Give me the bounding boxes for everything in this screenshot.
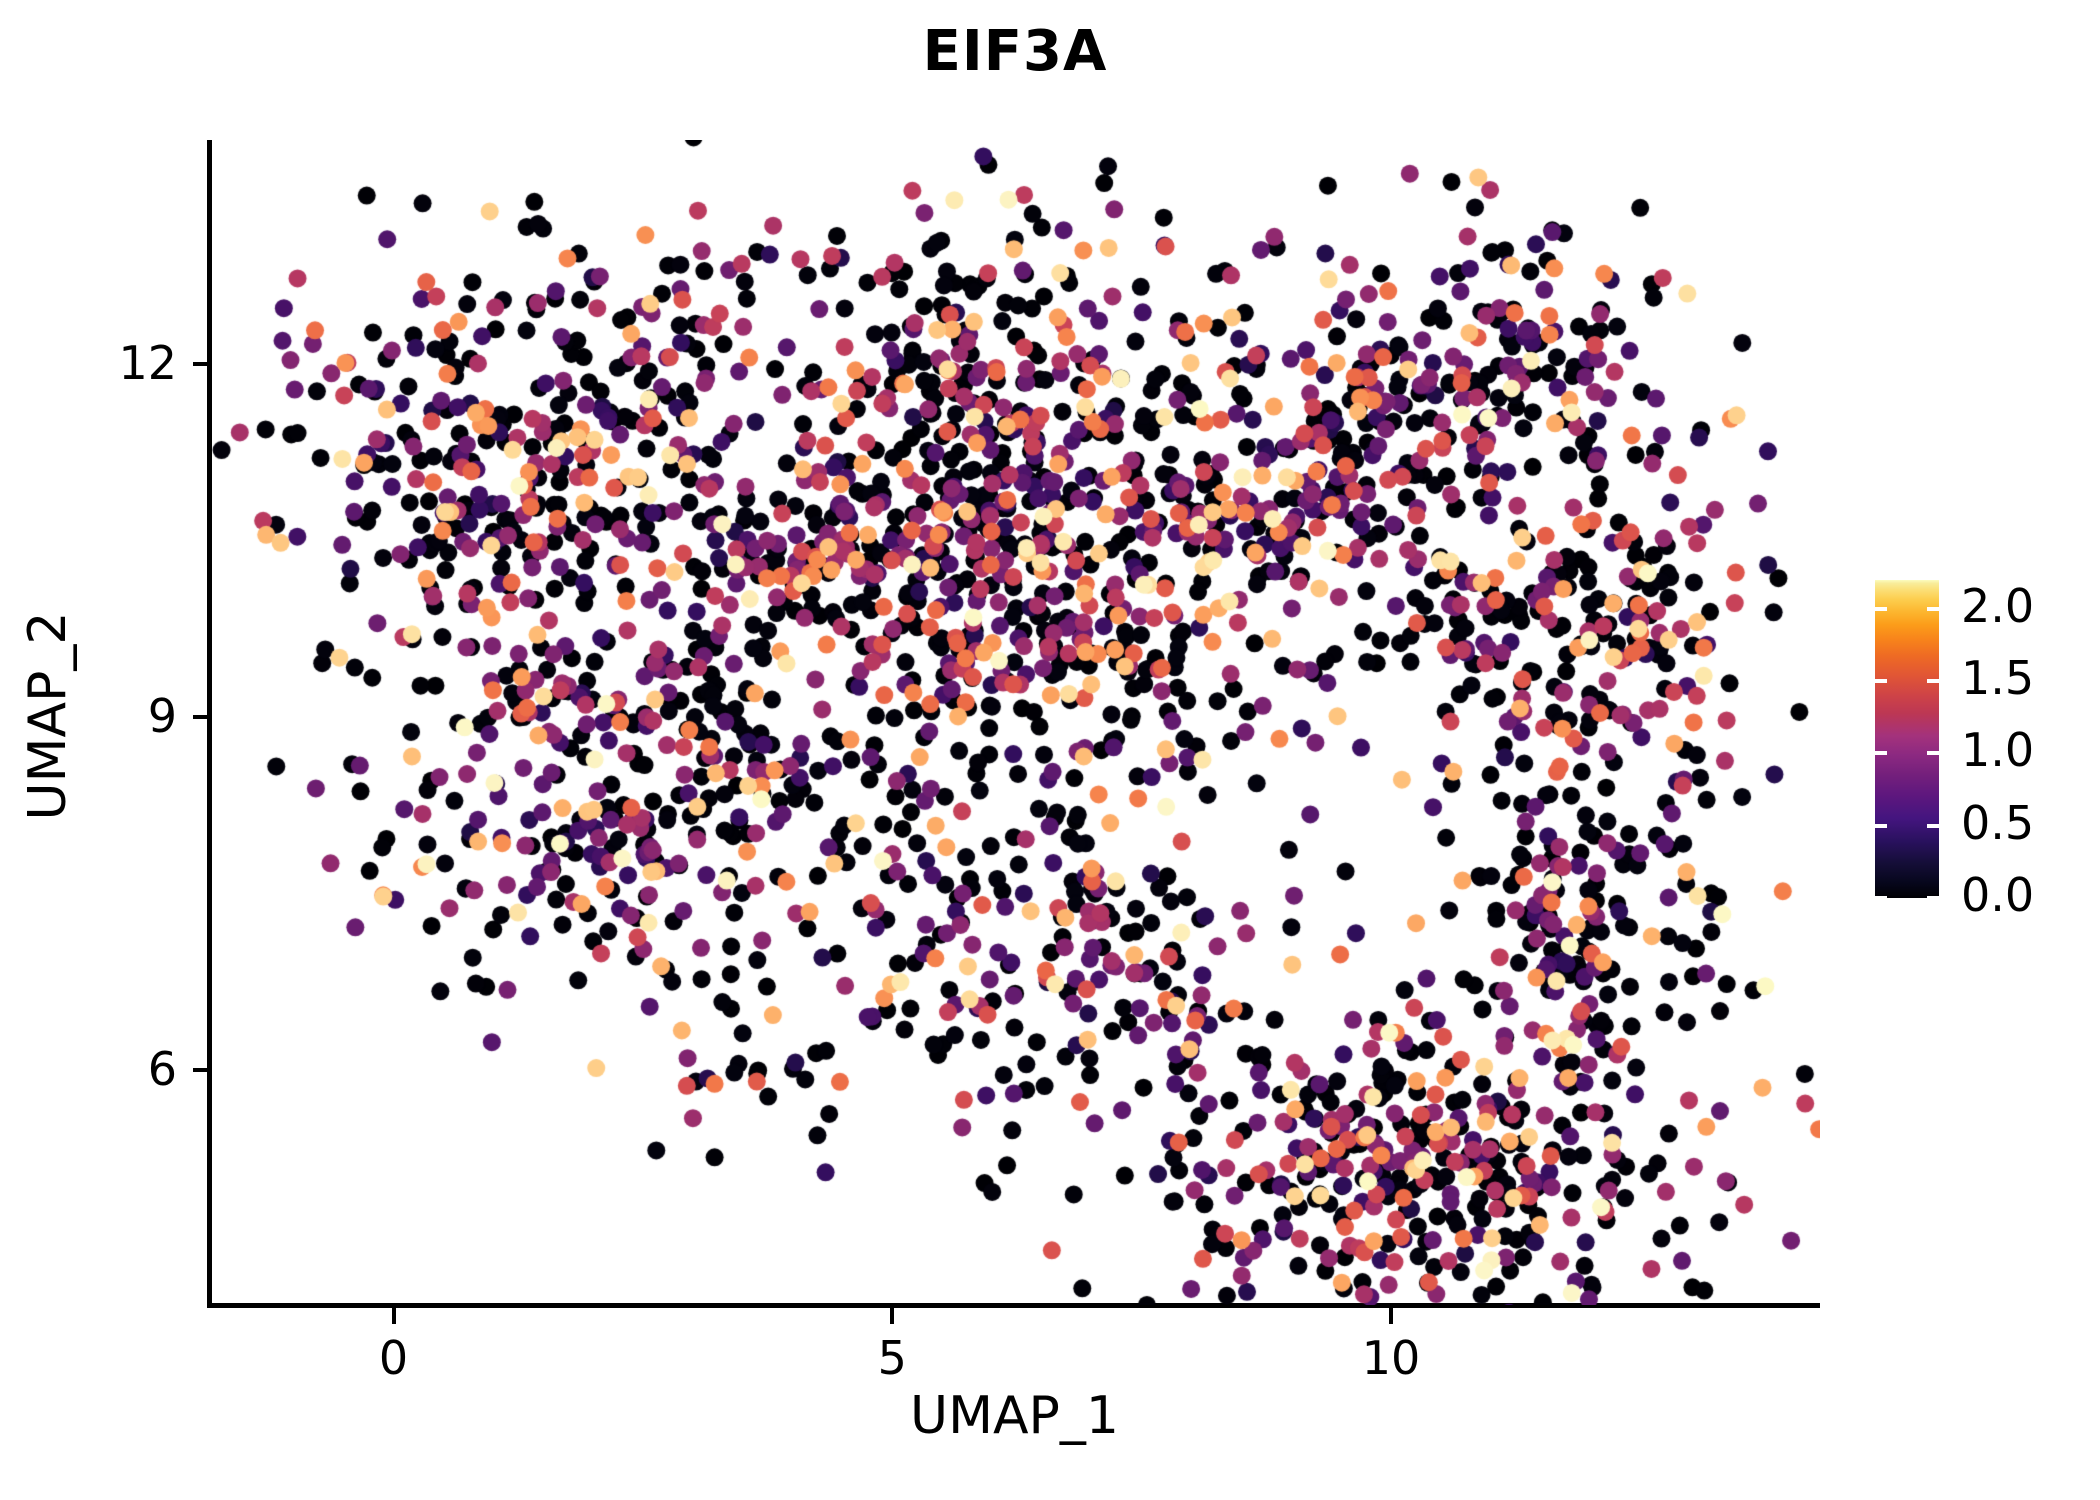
y-tick-label: 12 xyxy=(118,340,177,386)
x-tick-label: 0 xyxy=(294,1335,494,1381)
colorbar-tick-mark xyxy=(1875,679,1887,683)
colorbar-tick-mark xyxy=(1927,607,1939,611)
x-axis-label: UMAP_1 xyxy=(209,1390,1820,1442)
colorbar-tick-label: 1.5 xyxy=(1961,655,2034,701)
colorbar-tick-label: 1.0 xyxy=(1961,727,2034,773)
x-tick-label: 10 xyxy=(1291,1335,1491,1381)
colorbar-tick-label: 2.0 xyxy=(1961,583,2034,629)
x-tick-mark xyxy=(890,1308,894,1324)
colorbar-tick-mark xyxy=(1927,751,1939,755)
x-tick-mark xyxy=(1389,1308,1393,1324)
colorbar: 2.01.51.00.50.0 xyxy=(1875,580,2095,898)
umap-feature-plot-figure: EIF3A 6912 0510 UMAP_1 UMAP_2 2.01.51.00… xyxy=(0,0,2100,1500)
scatter-points-canvas xyxy=(209,140,1820,1305)
colorbar-tick-mark xyxy=(1875,824,1887,828)
colorbar-tick-mark xyxy=(1875,896,1887,900)
x-tick-label: 5 xyxy=(792,1335,992,1381)
y-tick-label: 9 xyxy=(148,693,177,739)
colorbar-gradient xyxy=(1875,580,1939,898)
colorbar-tick-mark xyxy=(1927,679,1939,683)
y-tick-mark xyxy=(193,715,208,719)
colorbar-tick-mark xyxy=(1927,896,1939,900)
colorbar-tick-label: 0.0 xyxy=(1961,872,2034,918)
y-axis-label-wrapper: UMAP_2 xyxy=(22,356,74,1076)
y-tick-mark xyxy=(193,1068,208,1072)
y-tick-label: 6 xyxy=(148,1046,177,1092)
colorbar-tick-label: 0.5 xyxy=(1961,800,2034,846)
x-tick-mark xyxy=(392,1308,396,1324)
colorbar-tick-mark xyxy=(1875,607,1887,611)
colorbar-tick-mark xyxy=(1875,751,1887,755)
y-axis-label: UMAP_2 xyxy=(18,612,78,821)
page-title: EIF3A xyxy=(0,24,2030,80)
colorbar-tick-mark xyxy=(1927,824,1939,828)
y-tick-mark xyxy=(193,362,208,366)
plot-area xyxy=(209,140,1820,1305)
